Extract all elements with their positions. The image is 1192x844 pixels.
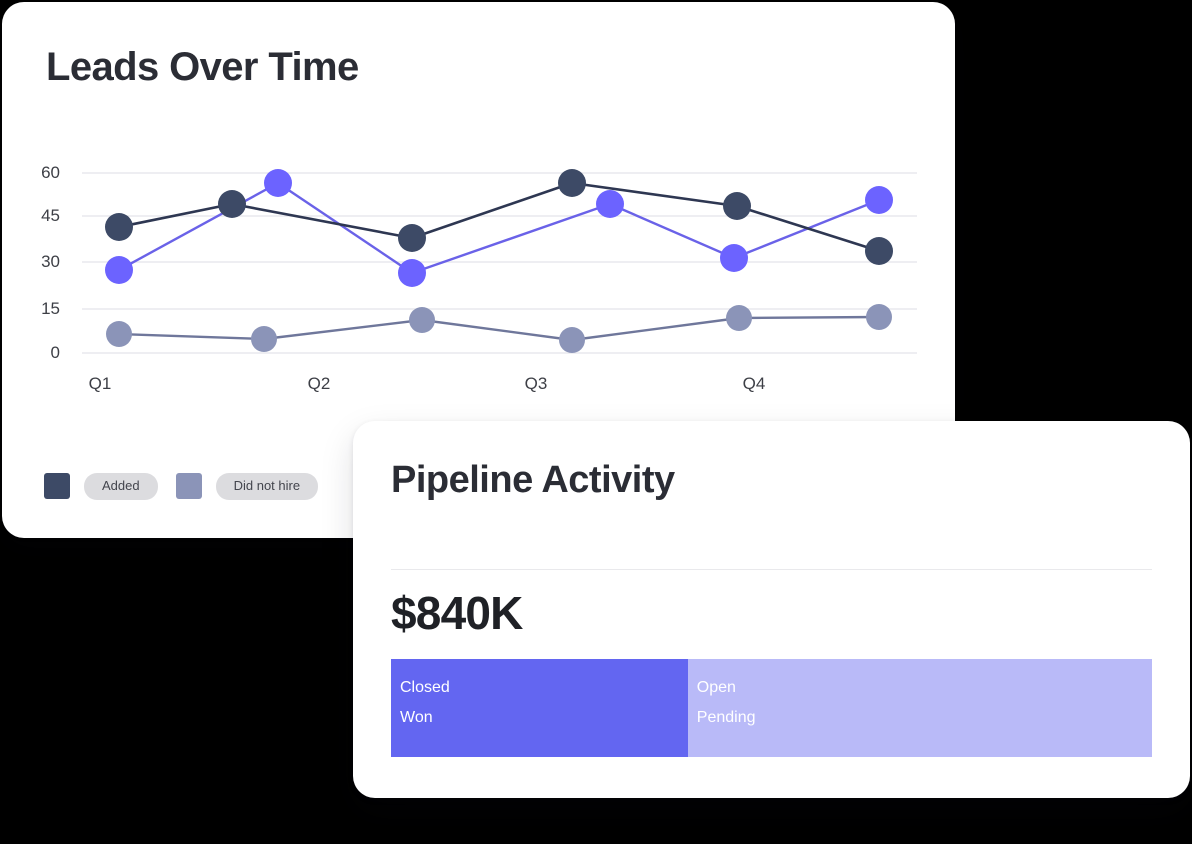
legend-label-did-not-hire: Did not hire (216, 473, 318, 500)
chart-svg (2, 2, 955, 412)
pipeline-title: Pipeline Activity (391, 459, 675, 503)
bar-segment-open-pending[interactable]: Open Pending (688, 659, 1152, 757)
x-tick-q4: Q4 (743, 374, 766, 394)
legend-item-did-not-hire[interactable]: Did not hire (176, 473, 318, 500)
series-did-not-hire (106, 304, 892, 353)
x-tick-q1: Q1 (89, 374, 112, 394)
x-tick-q2: Q2 (308, 374, 331, 394)
legend-label-added: Added (84, 473, 158, 500)
pipeline-stacked-bar: Closed Won Open Pending (391, 659, 1152, 757)
y-tick-15: 15 (24, 299, 60, 319)
y-tick-45: 45 (24, 206, 60, 226)
chart-gridlines (82, 173, 917, 353)
series-periwinkle (105, 169, 893, 287)
screen-root: Leads Over Time (0, 0, 1192, 844)
bar-segment-open-pending-line1: Open (697, 673, 1152, 703)
chart-legend: Added Did not hire (44, 473, 318, 500)
bar-segment-closed-won-line2: Won (400, 703, 688, 733)
y-tick-0: 0 (24, 343, 60, 363)
legend-item-added[interactable]: Added (44, 473, 158, 500)
series-added (105, 169, 893, 265)
leads-line-chart: 60 45 30 15 0 Q1 Q2 Q3 Q4 (2, 2, 955, 412)
bar-segment-open-pending-line2: Pending (697, 703, 1152, 733)
bar-segment-closed-won[interactable]: Closed Won (391, 659, 688, 757)
pipeline-activity-card: Pipeline Activity $840K Closed Won Open … (353, 421, 1190, 798)
pipeline-amount: $840K (391, 585, 523, 643)
legend-swatch-did-not-hire-icon (176, 473, 202, 499)
y-tick-60: 60 (24, 163, 60, 183)
y-tick-30: 30 (24, 252, 60, 272)
bar-segment-closed-won-line1: Closed (400, 673, 688, 703)
pipeline-divider (391, 569, 1152, 570)
legend-swatch-added-icon (44, 473, 70, 499)
x-tick-q3: Q3 (525, 374, 548, 394)
